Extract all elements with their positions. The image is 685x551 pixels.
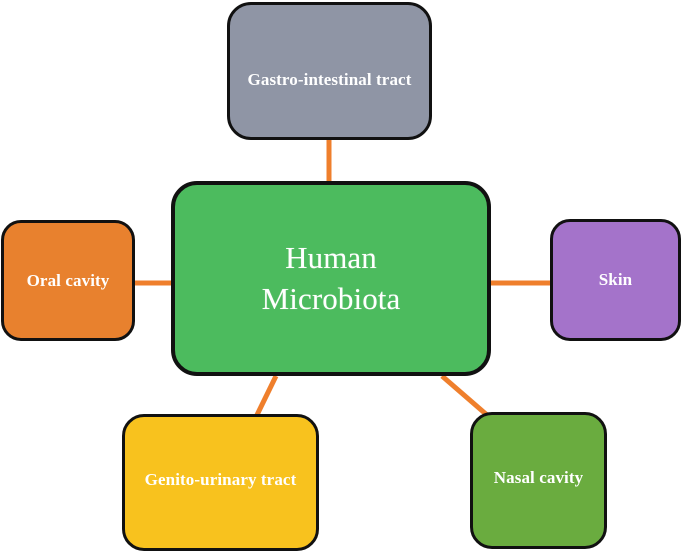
connector-center-to-nasal-cavity xyxy=(442,376,487,415)
node-oral-cavity[interactable]: Oral cavity xyxy=(1,220,135,341)
node-label-gastro-intestinal-tract: Gastro-intestinal tract xyxy=(248,70,412,90)
node-label-human-microbiota-line-2: Microbiota xyxy=(262,281,401,316)
node-label-human-microbiota: Human Microbiota xyxy=(262,238,401,320)
node-human-microbiota[interactable]: Human Microbiota xyxy=(171,181,491,376)
node-label-human-microbiota-line-1: Human xyxy=(285,240,377,275)
node-label-genito-urinary-tract: Genito-urinary tract xyxy=(145,470,297,490)
node-skin[interactable]: Skin xyxy=(550,219,681,341)
node-gastro-intestinal-tract[interactable]: Gastro-intestinal tract xyxy=(227,2,432,140)
node-genito-urinary-tract[interactable]: Genito-urinary tract xyxy=(122,414,319,551)
node-label-oral-cavity: Oral cavity xyxy=(27,271,110,291)
node-nasal-cavity[interactable]: Nasal cavity xyxy=(470,412,607,549)
connector-center-to-genito-urinary-tract xyxy=(256,376,276,417)
node-label-nasal-cavity: Nasal cavity xyxy=(494,468,584,488)
node-label-skin: Skin xyxy=(599,270,633,290)
diagram-canvas: Gastro-intestinal tract Oral cavity Huma… xyxy=(0,0,685,545)
